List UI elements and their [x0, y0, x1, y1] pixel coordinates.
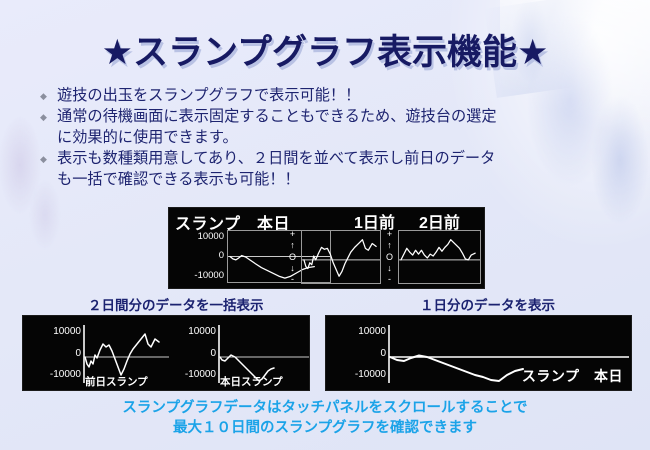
- y-label-min: -10000: [330, 370, 386, 380]
- bullet-item-2: ◆ 通常の待機画面に表示固定することもできるため、遊技台の選定: [40, 107, 620, 127]
- caption-two-day-batch: ２日間分のデータを一括表示: [88, 294, 264, 314]
- y-symbol-down: ↓: [290, 264, 295, 273]
- y-label-max: 10000: [330, 327, 386, 337]
- diamond-bullet-icon: ◆: [40, 107, 57, 127]
- bullet-item-3: ◆ 表示も数種類用意してあり、２日間を並べて表示し前日のデータ: [40, 149, 620, 169]
- br-graph-inner-label: スランプ 本日: [522, 366, 623, 386]
- top-graph-2-line: [304, 240, 376, 277]
- y-label-max: 10000: [171, 232, 224, 242]
- y-label-zero: 0: [25, 349, 81, 359]
- top-graph-3-y-axis: + ↑ O ↓ -: [384, 230, 395, 284]
- y-symbol-plus: +: [290, 230, 295, 239]
- bullet-item-3-text: 表示も数種類用意してあり、２日間を並べて表示し前日のデータ: [57, 149, 620, 169]
- bullet-list: ◆ 遊技の出玉をスランプグラフで表示可能！！ ◆ 通常の待機画面に表示固定するこ…: [40, 86, 620, 190]
- y-label-max: 10000: [160, 327, 216, 337]
- diamond-bullet-icon: ◆: [40, 86, 57, 106]
- top-graph-2-plot: [301, 230, 381, 284]
- y-label-min: -10000: [25, 370, 81, 380]
- footer-note: スランプグラフデータはタッチパネルをスクロールすることで 最大１０日間のスランプ…: [0, 398, 650, 438]
- top-graph-2-y-axis: + ↑ O ↓ -: [287, 230, 298, 284]
- page-title: ★スランプグラフ表示機能★: [0, 24, 650, 75]
- y-label-zero: 0: [160, 349, 216, 359]
- y-symbol-down: ↓: [387, 264, 392, 273]
- bullet-item-1: ◆ 遊技の出玉をスランプグラフで表示可能！！: [40, 86, 620, 106]
- y-symbol-minus: -: [388, 275, 391, 284]
- bl-graph-1-y-axis: 10000 0 -10000: [25, 327, 81, 380]
- y-label-max: 10000: [25, 327, 81, 337]
- bl-graph-1-line: [85, 334, 159, 375]
- bl-graph-2-y-axis: 10000 0 -10000: [160, 327, 216, 380]
- y-symbol-up: ↑: [290, 241, 295, 250]
- bl-graph-1-inner-label: 前日スランプ: [85, 374, 148, 389]
- br-graph-y-axis: 10000 0 -10000: [330, 327, 386, 380]
- lcd-panel-one-day: 10000 0 -10000 スランプ 本日: [325, 315, 632, 391]
- lcd-panel-three-day: スランプ 本日 10000 0 -10000 1日前 + ↑ O ↓ -: [168, 207, 485, 289]
- bl-graph-2-inner-label: 本日スランプ: [220, 374, 283, 389]
- y-label-zero: 0: [330, 349, 386, 359]
- y-symbol-zero: O: [289, 253, 296, 262]
- br-graph-line: [390, 356, 523, 382]
- top-graph-3-svg: [399, 231, 480, 283]
- caption-one-day: １日分のデータを表示: [420, 294, 555, 314]
- footer-line-1: スランプグラフデータはタッチパネルをスクロールすることで: [0, 398, 650, 418]
- y-symbol-zero: O: [386, 253, 393, 262]
- y-label-zero: 0: [171, 251, 224, 261]
- top-graph-2-svg: [302, 231, 380, 283]
- diamond-bullet-icon: ◆: [40, 149, 57, 169]
- top-graph-3-plot: [398, 230, 481, 284]
- bullet-item-3-text-cont: も一括で確認できる表示も可能！！: [40, 170, 620, 190]
- bullet-item-2-text-cont: に効果的に使用できます。: [40, 128, 620, 148]
- y-label-min: -10000: [160, 370, 216, 380]
- y-symbol-minus: -: [291, 275, 294, 284]
- slide-root: ★スランプグラフ表示機能★ ◆ 遊技の出玉をスランプグラフで表示可能！！ ◆ 通…: [0, 0, 650, 450]
- y-symbol-up: ↑: [387, 241, 392, 250]
- lcd-panel-two-day-batch: 10000 0 -10000 前日スランプ 10000 0 -10000 本日ス…: [22, 315, 310, 391]
- y-label-min: -10000: [171, 271, 224, 281]
- top-graph-3-line: [401, 240, 475, 260]
- top-graph-1-y-axis: 10000 0 -10000: [171, 232, 224, 280]
- bullet-item-1-text: 遊技の出玉をスランプグラフで表示可能！！: [57, 86, 620, 106]
- bullet-item-2-text: 通常の待機画面に表示固定することもできるため、遊技台の選定: [57, 107, 620, 127]
- footer-line-2: 最大１０日間のスランプグラフを確認できます: [0, 418, 650, 438]
- y-symbol-plus: +: [387, 230, 392, 239]
